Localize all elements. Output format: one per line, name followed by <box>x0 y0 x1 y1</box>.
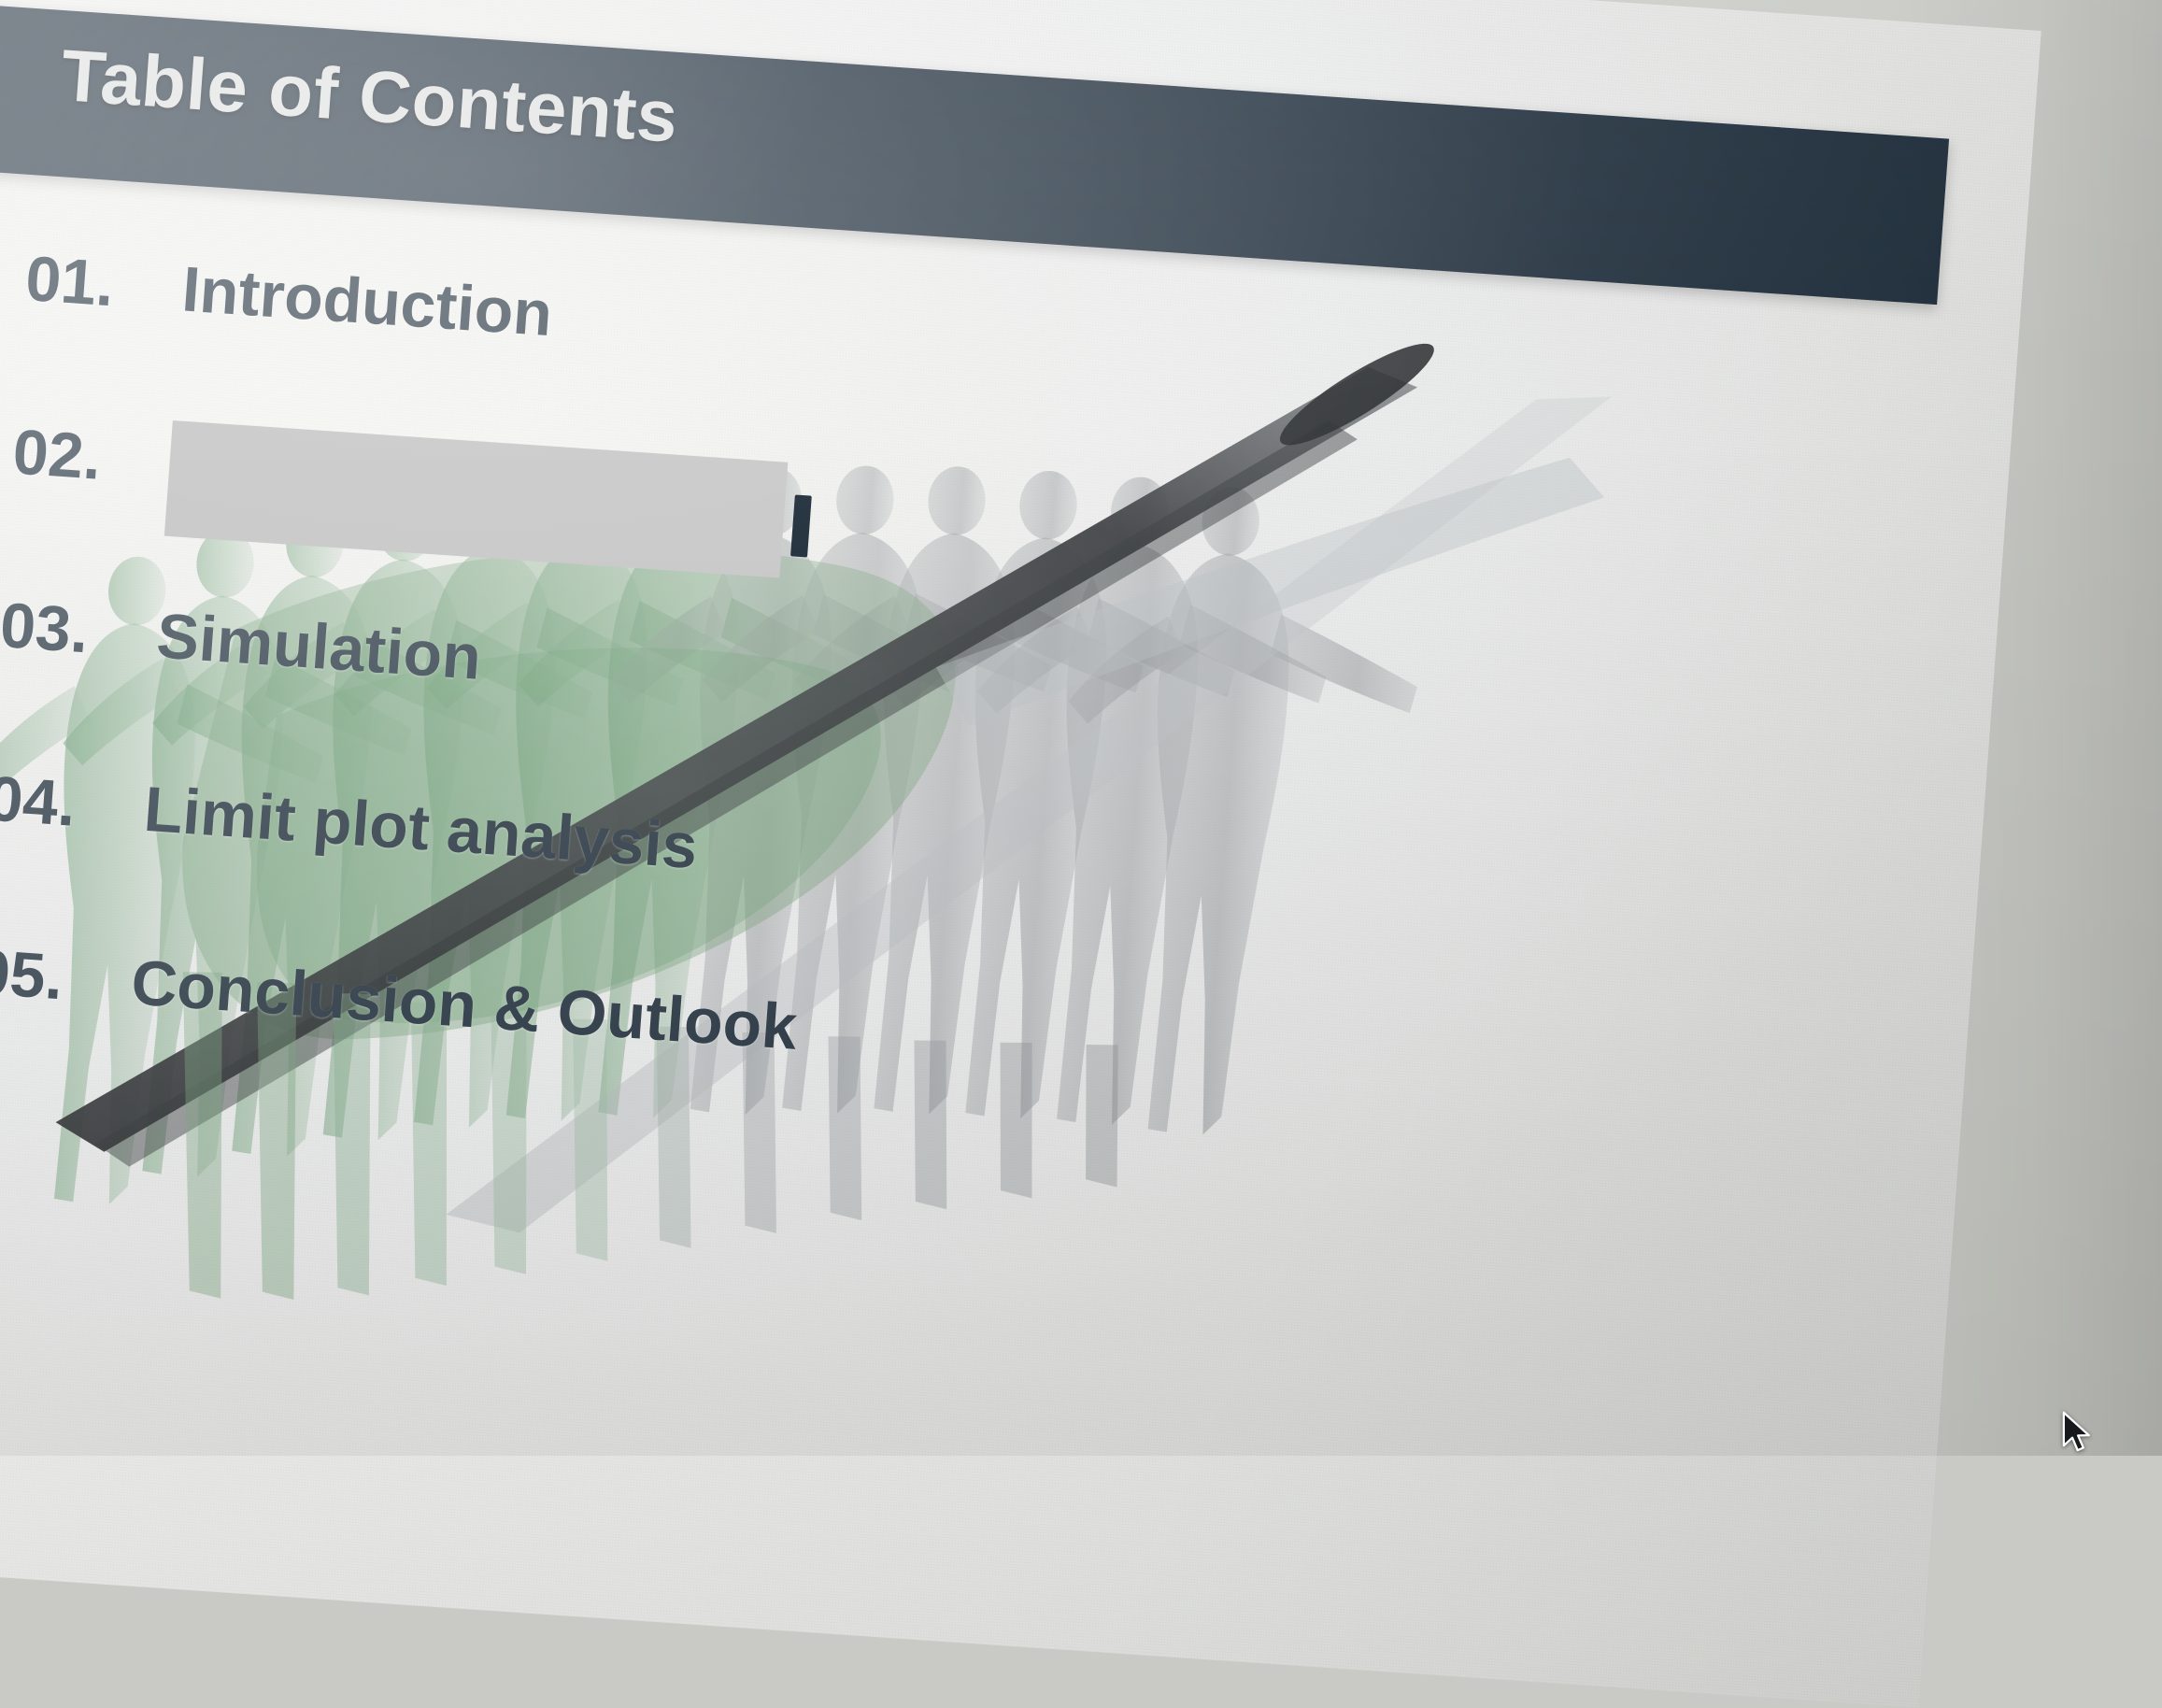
mouse-cursor-icon <box>2061 1411 2093 1454</box>
projection-screen: Table of Contents <box>0 0 2041 1708</box>
screen-light-falloff <box>0 0 2041 1708</box>
